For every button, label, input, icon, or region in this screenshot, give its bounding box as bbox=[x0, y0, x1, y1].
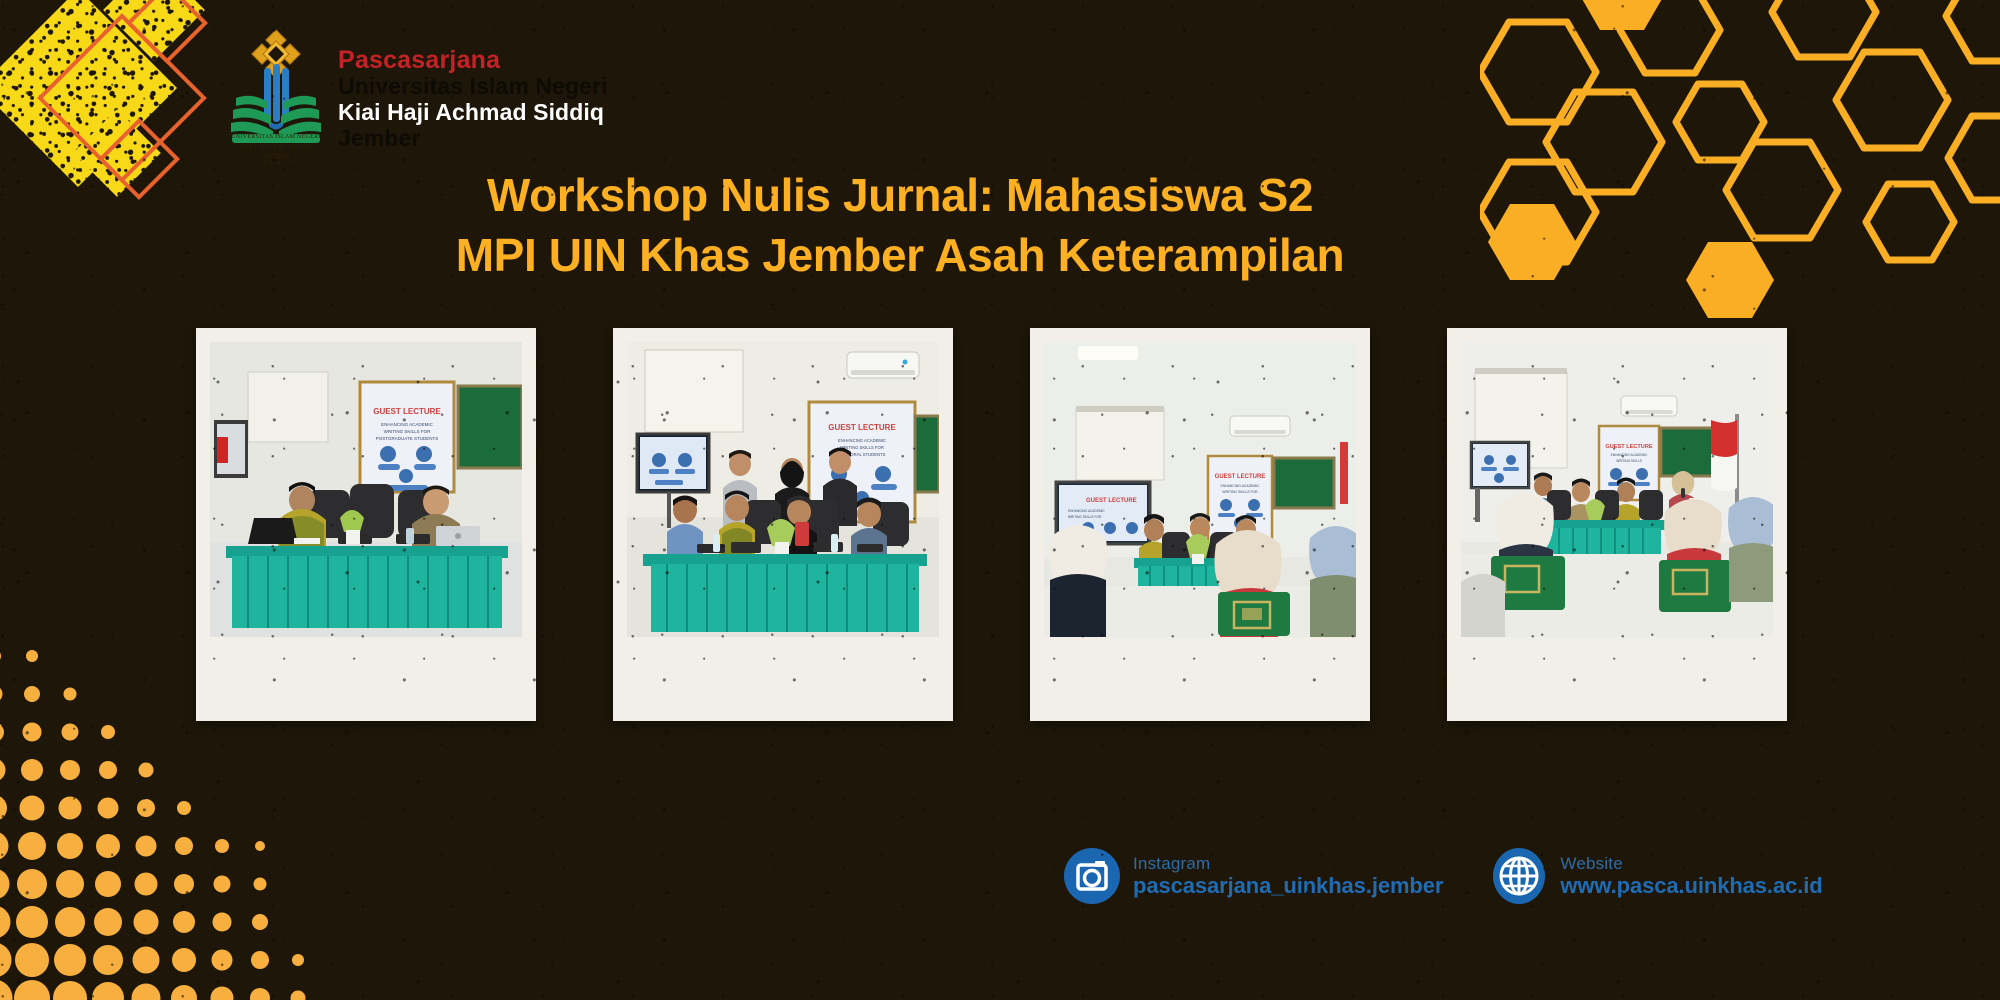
svg-text:GUEST LECTURE: GUEST LECTURE bbox=[373, 407, 441, 416]
instagram-label: Instagram bbox=[1133, 855, 1443, 873]
svg-text:WRITING SKILLS: WRITING SKILLS bbox=[1616, 459, 1642, 463]
brand-line-pascasarjana: Pascasarjana bbox=[338, 46, 608, 74]
svg-text:WRITING SKILLS FOR: WRITING SKILLS FOR bbox=[1068, 515, 1102, 519]
photo-strip: GUEST LECTURE ENHANCING ACADEMIC WRITING… bbox=[196, 328, 1787, 721]
photo-3-image: GUEST LECTURE ENHANCING ACADEMIC WRITING… bbox=[1044, 342, 1356, 637]
website-label: Website bbox=[1560, 855, 1822, 873]
svg-text:WRITING SKILLS FOR: WRITING SKILLS FOR bbox=[384, 429, 432, 434]
polaroid-frame-2: GUEST LECTURE ENHANCING ACADEMIC WRITING… bbox=[613, 328, 953, 721]
brand-header: UNIVERSITAS ISLAM NEGERI KIAI HAJI ACHMA… bbox=[228, 24, 608, 156]
svg-text:ENHANCING ACADEMIC: ENHANCING ACADEMIC bbox=[1611, 453, 1648, 457]
photo-4: GUEST LECTURE ENHANCING ACADEMIC WRITING… bbox=[1461, 342, 1773, 637]
photo-1: GUEST LECTURE ENHANCING ACADEMIC WRITING… bbox=[210, 342, 522, 637]
contact-bar: Instagram pascasarjana_uinkhas.jember We… bbox=[1064, 848, 1823, 904]
logo-caption-line1: UNIVERSITAS ISLAM NEGERI bbox=[228, 134, 324, 142]
svg-text:ENHANCING ACADEMIC: ENHANCING ACADEMIC bbox=[1068, 509, 1105, 513]
poster-canvas: UNIVERSITAS ISLAM NEGERI KIAI HAJI ACHMA… bbox=[0, 0, 2000, 1000]
svg-text:ENHANCING ACADEMIC: ENHANCING ACADEMIC bbox=[838, 438, 886, 443]
website-text: Website www.pasca.uinkhas.ac.id bbox=[1560, 855, 1822, 898]
brand-line-kiai-haji: Kiai Haji Achmad Siddiq bbox=[338, 100, 608, 126]
polaroid-frame-3: GUEST LECTURE ENHANCING ACADEMIC WRITING… bbox=[1030, 328, 1370, 721]
university-logo: UNIVERSITAS ISLAM NEGERI KIAI HAJI ACHMA… bbox=[228, 24, 324, 156]
photo-4-image: GUEST LECTURE ENHANCING ACADEMIC WRITING… bbox=[1461, 342, 1773, 637]
contact-instagram[interactable]: Instagram pascasarjana_uinkhas.jember bbox=[1064, 848, 1443, 904]
title-line-2: MPI UIN Khas Jember Asah Keterampilan bbox=[120, 226, 1680, 286]
logo-caption-line2: KIAI HAJI ACHMAD SIDDIQ bbox=[228, 142, 324, 161]
polaroid-frame-4: GUEST LECTURE ENHANCING ACADEMIC WRITING… bbox=[1447, 328, 1787, 721]
svg-text:GUEST LECTURE: GUEST LECTURE bbox=[1086, 498, 1137, 504]
brand-line-jember: Jember bbox=[338, 126, 608, 152]
instagram-icon[interactable] bbox=[1064, 848, 1120, 904]
photo-2: GUEST LECTURE ENHANCING ACADEMIC WRITING… bbox=[627, 342, 939, 637]
svg-text:WRITING SKILLS FOR: WRITING SKILLS FOR bbox=[1222, 490, 1258, 494]
website-url[interactable]: www.pasca.uinkhas.ac.id bbox=[1560, 874, 1822, 897]
brand-text-block: Pascasarjana Universitas Islam Negeri Ki… bbox=[338, 24, 608, 151]
instagram-text: Instagram pascasarjana_uinkhas.jember bbox=[1133, 855, 1443, 898]
title-line-1: Workshop Nulis Jurnal: Mahasiswa S2 bbox=[120, 166, 1680, 226]
brand-line-universitas: Universitas Islam Negeri bbox=[338, 74, 608, 100]
svg-text:ENHANCING ACADEMIC: ENHANCING ACADEMIC bbox=[1221, 484, 1261, 488]
instagram-handle[interactable]: pascasarjana_uinkhas.jember bbox=[1133, 874, 1443, 897]
polaroid-frame-1: GUEST LECTURE ENHANCING ACADEMIC WRITING… bbox=[196, 328, 536, 721]
svg-text:GUEST LECTURE: GUEST LECTURE bbox=[1605, 444, 1653, 450]
svg-text:POSTGRADUATE STUDENTS: POSTGRADUATE STUDENTS bbox=[376, 436, 438, 441]
svg-text:GUEST LECTURE: GUEST LECTURE bbox=[1215, 474, 1266, 480]
page-title: Workshop Nulis Jurnal: Mahasiswa S2 MPI … bbox=[0, 166, 2000, 286]
photo-2-image: GUEST LECTURE ENHANCING ACADEMIC WRITING… bbox=[627, 342, 939, 637]
svg-text:ENHANCING ACADEMIC: ENHANCING ACADEMIC bbox=[381, 422, 434, 427]
photo-1-image: GUEST LECTURE ENHANCING ACADEMIC WRITING… bbox=[210, 342, 522, 637]
contact-website[interactable]: Website www.pasca.uinkhas.ac.id bbox=[1491, 848, 1822, 904]
photo-3: GUEST LECTURE ENHANCING ACADEMIC WRITING… bbox=[1044, 342, 1356, 637]
svg-text:GUEST LECTURE: GUEST LECTURE bbox=[828, 423, 896, 432]
globe-icon[interactable] bbox=[1491, 848, 1547, 904]
